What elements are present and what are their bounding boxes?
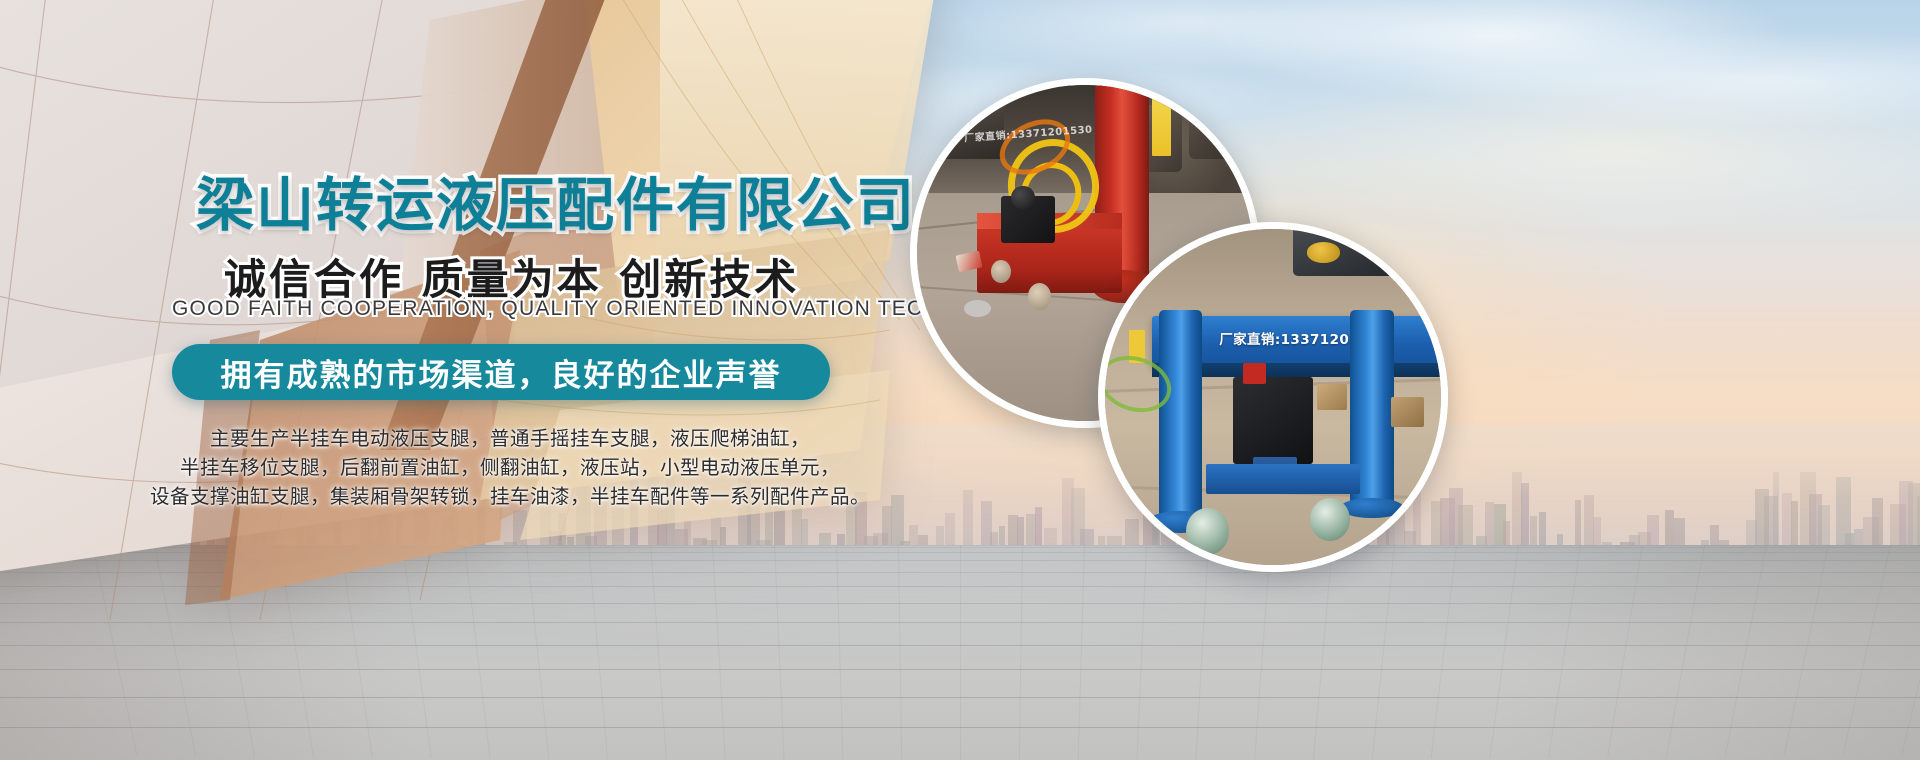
product-description: 主要生产半挂车电动液压支腿，普通手摇挂车支腿，液压爬梯油缸， 半挂车移位支腿，后… xyxy=(150,424,870,511)
slogan-english: GOOD FAITH COOPERATION, QUALITY ORIENTED… xyxy=(172,297,1037,321)
product-photo-blue-scene: 厂家直销:13371201530 xyxy=(1105,229,1441,565)
description-line-2: 半挂车移位支腿，后翻前置油缸，侧翻油缸，液压站，小型电动液压单元， xyxy=(150,453,870,482)
description-line-1: 主要生产半挂车电动液压支腿，普通手摇挂车支腿，液压爬梯油缸， xyxy=(150,424,870,453)
company-name: 梁山转运液压配件有限公司 xyxy=(196,158,916,242)
hero-banner: 梁山转运液压配件有限公司 诚信合作 质量为本 创新技术 GOOD FAITH C… xyxy=(0,0,1920,760)
product-photo-blue: 厂家直销:13371201530 xyxy=(1098,222,1448,572)
highlight-pill: 拥有成熟的市场渠道，良好的企业声誉 xyxy=(172,344,830,400)
highlight-pill-text: 拥有成熟的市场渠道，良好的企业声誉 xyxy=(221,350,782,395)
description-line-3: 设备支撑油缸支腿，集装厢骨架转锁，挂车油漆，半挂车配件等一系列配件产品。 xyxy=(150,482,870,511)
